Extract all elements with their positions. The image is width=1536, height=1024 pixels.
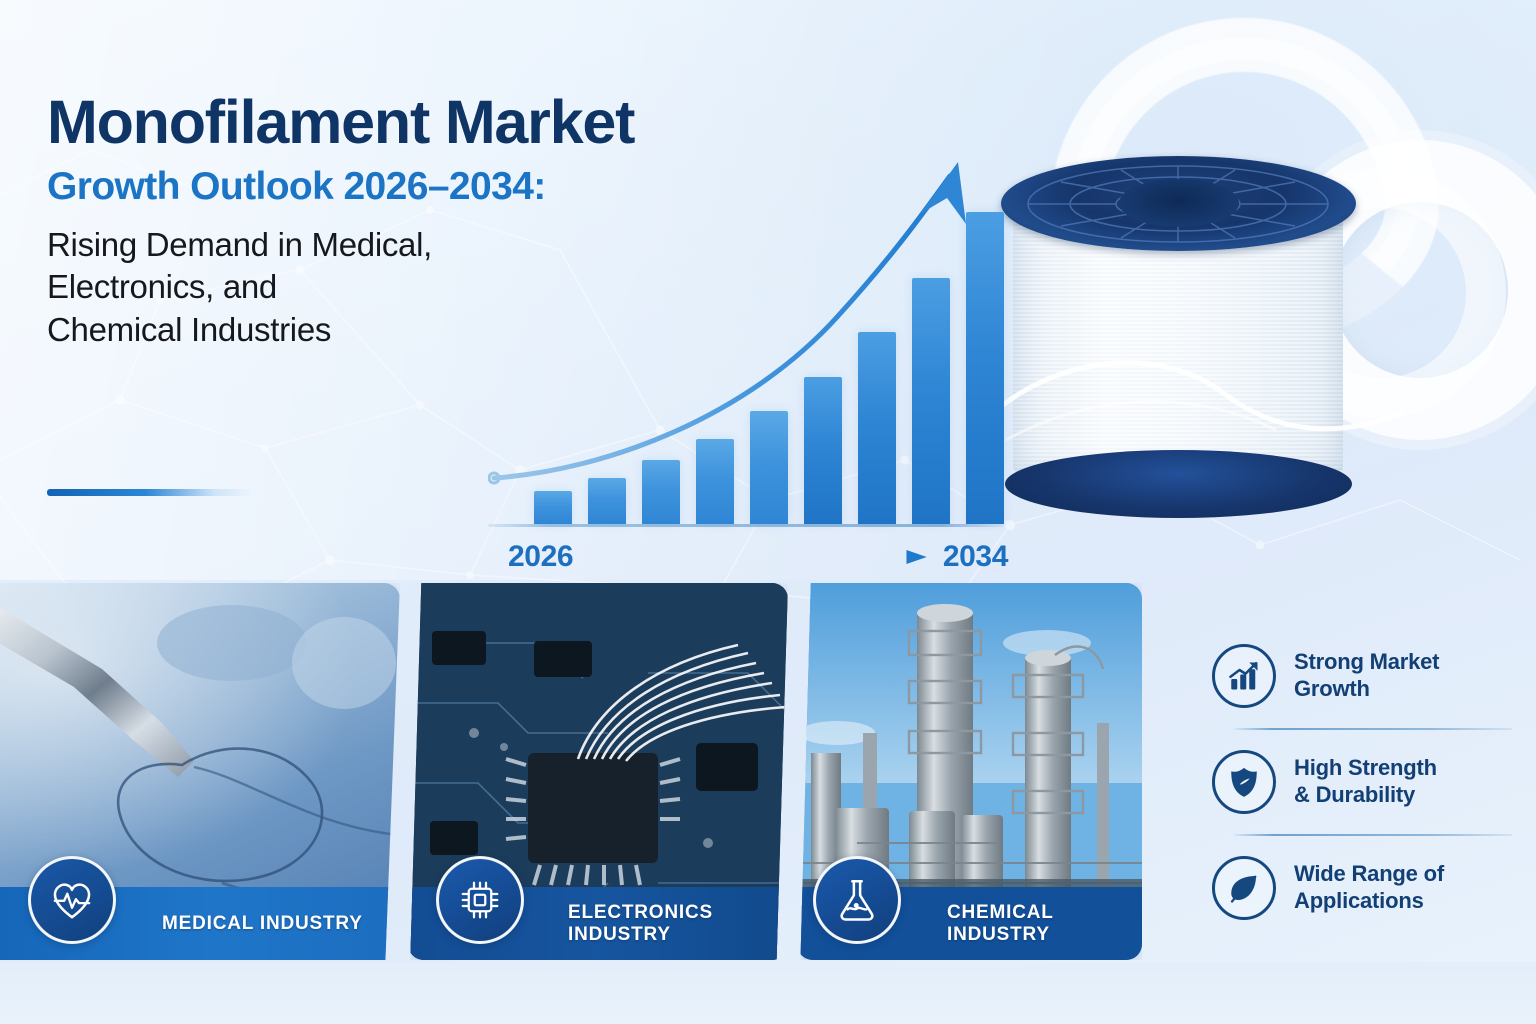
axis-time-arrow (589, 549, 927, 565)
feature-divider-1 (1234, 728, 1512, 730)
spool-hub (1119, 179, 1239, 227)
industry-card-chemical[interactable]: CHEMICAL INDUSTRY (797, 583, 1142, 960)
shield-icon (1212, 750, 1276, 814)
spool-bottom-flange (1005, 450, 1352, 518)
feature-label-1: High Strength & Durability (1294, 755, 1437, 809)
features-list: Strong Market Growth High Strength & Dur… (1212, 630, 1512, 934)
feature-strong-market-growth: Strong Market Growth (1212, 630, 1512, 722)
bar-2029 (696, 439, 734, 524)
loose-filament-strand (976, 300, 1406, 450)
axis-end-year: 2034 (943, 540, 1008, 574)
feature-line-1-1: High Strength (1294, 755, 1437, 782)
cpu-chip-icon (436, 856, 524, 944)
industry-card-medical[interactable]: MEDICAL INDUSTRY (0, 583, 400, 960)
card-label-medical: MEDICAL INDUSTRY (162, 913, 363, 935)
bar-2030 (750, 411, 788, 524)
bar-2028 (642, 460, 680, 524)
chart-baseline (488, 524, 1004, 527)
bar-2034 (966, 212, 1004, 524)
card-label-electronics: ELECTRONICS INDUSTRY (568, 902, 788, 946)
heart-pulse-icon (28, 856, 116, 944)
feature-wide-range-applications: Wide Range of Applications (1212, 842, 1512, 934)
feature-line-2-2: Applications (1294, 888, 1444, 915)
growth-bar-chart: 2026 2034 (488, 140, 1008, 580)
flask-icon (813, 856, 901, 944)
axis-start-year: 2026 (508, 540, 573, 574)
feature-line-0-2: Growth (1294, 676, 1439, 703)
leaf-icon (1212, 856, 1276, 920)
feature-line-1-2: & Durability (1294, 782, 1437, 809)
chart-bars (534, 194, 1004, 524)
feature-label-0: Strong Market Growth (1294, 649, 1439, 703)
bar-2031 (804, 377, 842, 524)
feature-divider-2 (1234, 834, 1512, 836)
feature-line-0-1: Strong Market (1294, 649, 1439, 676)
feature-label-2: Wide Range of Applications (1294, 861, 1444, 915)
bottom-strip (0, 962, 1536, 1024)
chart-axis-labels: 2026 2034 (508, 534, 1008, 580)
feature-line-2-1: Wide Range of (1294, 861, 1444, 888)
bar-2032 (858, 332, 896, 524)
industry-card-electronics[interactable]: ELECTRONICS INDUSTRY (408, 583, 788, 960)
feature-high-strength-durability: High Strength & Durability (1212, 736, 1512, 828)
bar-2027 (588, 478, 626, 524)
accent-divider-bar (47, 489, 252, 496)
bar-2033 (912, 278, 950, 524)
card-label-chemical: CHEMICAL INDUSTRY (947, 902, 1142, 946)
bar-2026 (534, 491, 572, 524)
infographic-canvas: Monofilament Market Growth Outlook 2026–… (0, 0, 1536, 1024)
monofilament-spool-photo (976, 0, 1536, 585)
bar-chart-growth-icon (1212, 644, 1276, 708)
industry-cards: MEDICAL INDUSTRY (0, 583, 1160, 963)
